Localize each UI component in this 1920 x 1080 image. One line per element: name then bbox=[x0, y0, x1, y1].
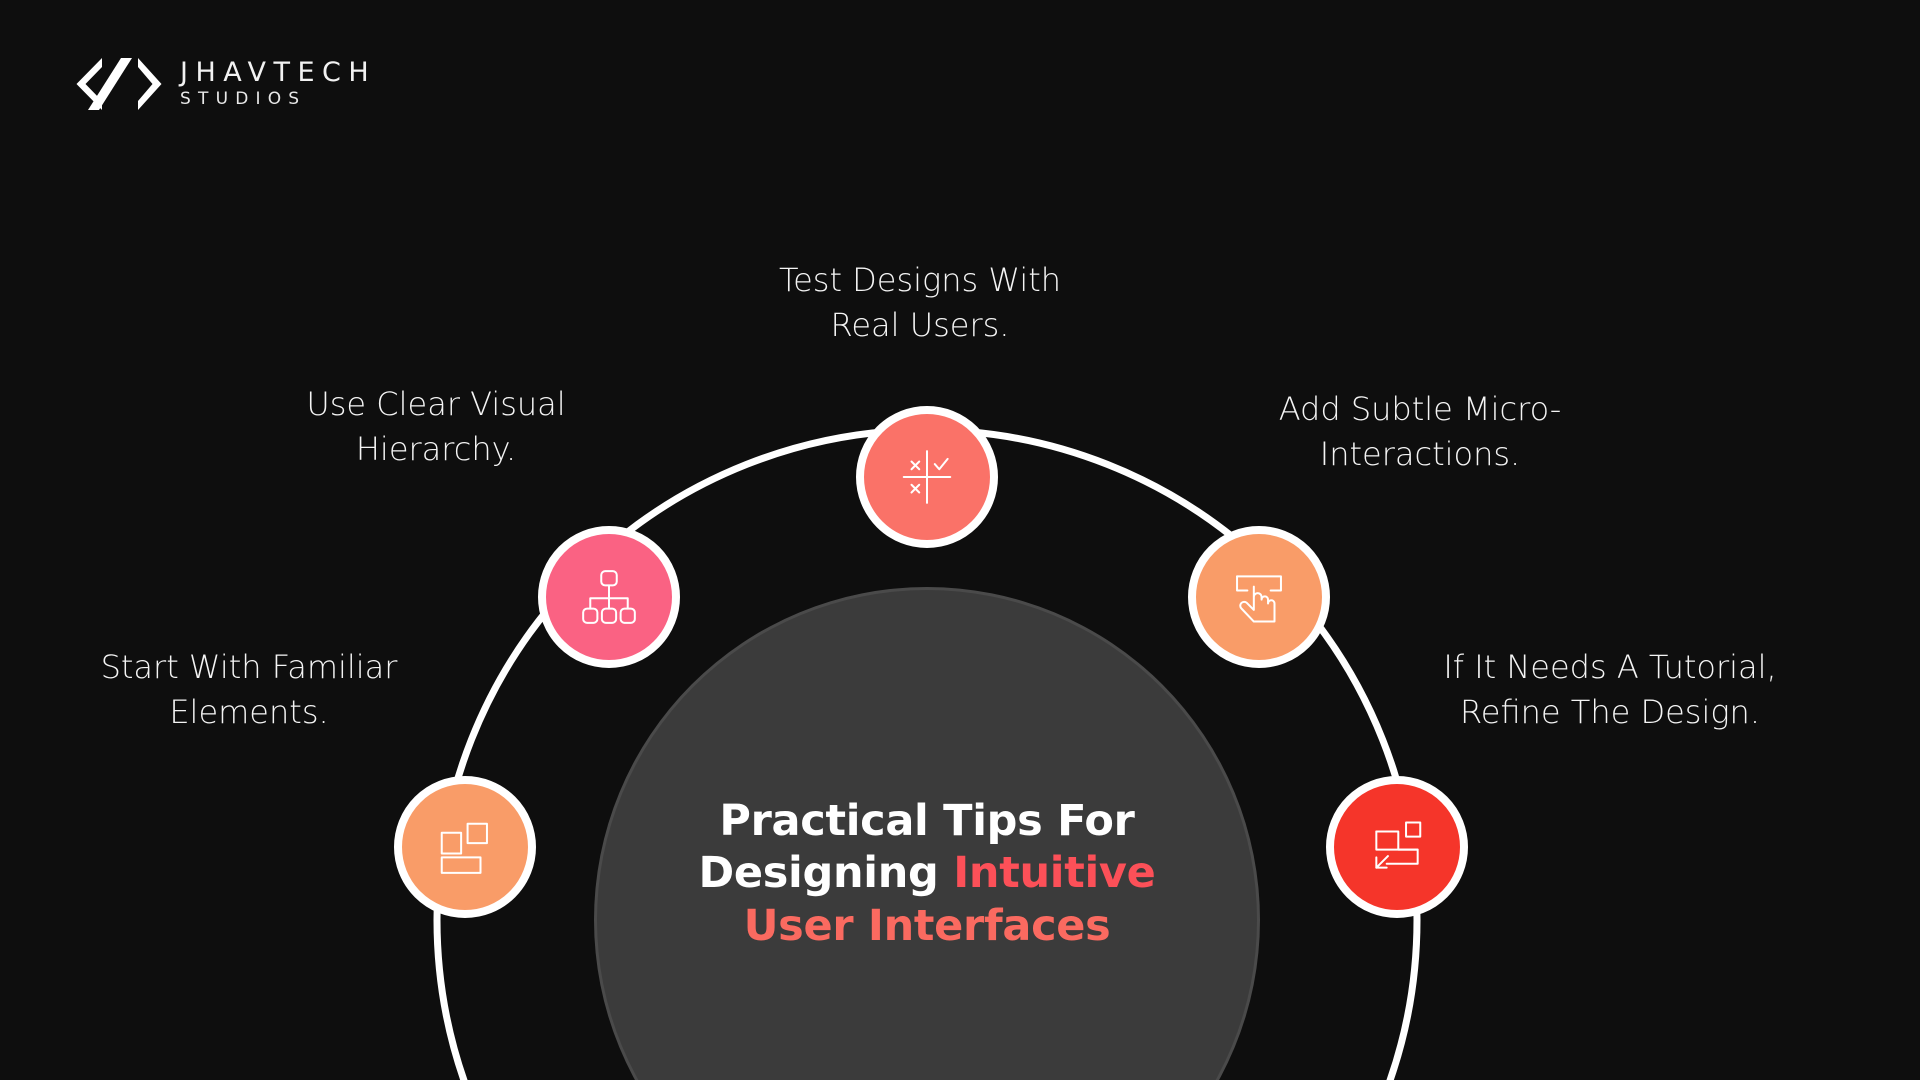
label-refine-design: If It Needs A Tutorial, Refine The Desig… bbox=[1420, 645, 1800, 736]
workflow-arrow-icon bbox=[1366, 816, 1428, 878]
hub-title-line-1: Practical Tips For bbox=[655, 795, 1199, 847]
label-test-designs: Test Designs With Real Users. bbox=[735, 258, 1105, 349]
circular-diagram: Practical Tips For Designing Intuitive U… bbox=[0, 0, 1920, 1080]
label-micro-interactions: Add Subtle Micro- Interactions. bbox=[1255, 387, 1585, 478]
hub-title: Practical Tips For Designing Intuitive U… bbox=[597, 795, 1257, 952]
node-familiar-elements[interactable] bbox=[394, 776, 536, 918]
layout-blocks-icon bbox=[434, 816, 496, 878]
infographic-canvas: JHAVTECH STUDIOS Practical Tips For Desi… bbox=[0, 0, 1920, 1080]
hub-title-line-2-accent: Intuitive bbox=[953, 848, 1155, 898]
ab-test-grid-icon bbox=[896, 446, 958, 508]
node-micro-interactions[interactable] bbox=[1188, 526, 1330, 668]
hierarchy-tree-icon bbox=[578, 566, 640, 628]
hub-title-line-2-plain: Designing bbox=[699, 848, 954, 898]
label-familiar-elements: Start With Familiar Elements. bbox=[55, 645, 443, 736]
node-visual-hierarchy[interactable] bbox=[538, 526, 680, 668]
hub-title-line-2: Designing Intuitive bbox=[655, 847, 1199, 899]
node-refine-design[interactable] bbox=[1326, 776, 1468, 918]
hub-title-line-3: User Interfaces bbox=[655, 900, 1199, 952]
label-visual-hierarchy: Use Clear Visual Hierarchy. bbox=[243, 382, 629, 473]
node-test-designs[interactable] bbox=[856, 406, 998, 548]
tap-hand-icon bbox=[1228, 566, 1290, 628]
